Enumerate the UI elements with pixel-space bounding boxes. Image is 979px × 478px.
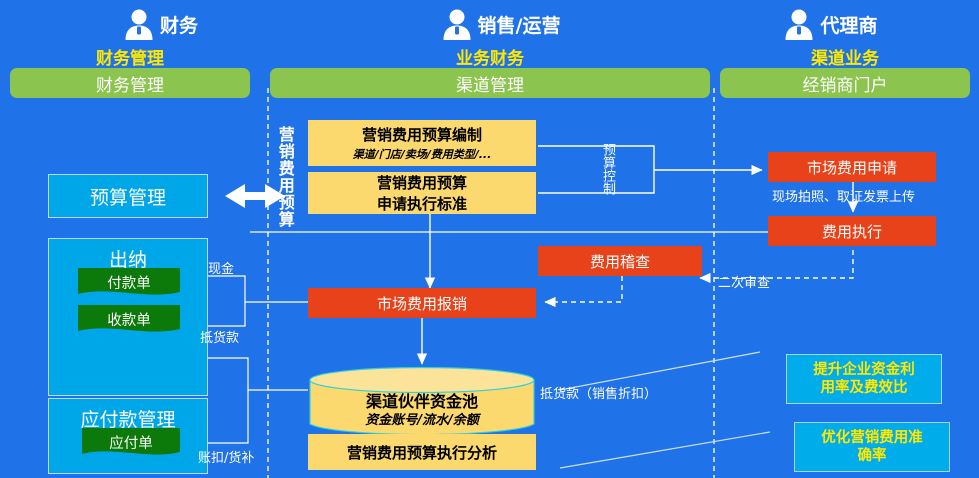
goal-line2: 用率及费效比 — [821, 379, 908, 397]
doc-label: 收款单 — [78, 309, 180, 330]
persona-header-finance: 财务 — [60, 4, 260, 44]
goal-box-accuracy[interactable]: 优化营销费用准 确率 — [794, 422, 950, 472]
budget-standard-line2: 申请执行标准 — [377, 193, 467, 214]
edge-label-account-deduct: 账扣/货补 — [198, 447, 254, 466]
persona-subtitle-agent: 渠道业务 — [720, 44, 970, 69]
goal-line1: 提升企业资金利 — [813, 361, 915, 379]
edge-label-goods-offset-discount: 抵货款（销售折扣） — [540, 383, 657, 402]
budget-standard-line1: 营销费用预算 — [377, 172, 467, 193]
budget-analysis-title: 营销费用预算执行分析 — [347, 442, 497, 463]
person-icon — [122, 7, 156, 41]
edge-label-photo-invoice-upload: 现场拍照、取证发票上传 — [772, 186, 915, 205]
goal-line1: 优化营销费用准 — [821, 429, 923, 447]
persona-subtitle-sales: 业务财务 — [270, 44, 710, 69]
budget-management-box[interactable]: 预算管理 — [48, 174, 208, 218]
module-bar-finance[interactable]: 财务管理 — [10, 68, 250, 98]
persona-name: 代理商 — [820, 11, 877, 38]
edge-label-second-review: 二次审查 — [718, 272, 770, 291]
person-icon — [440, 7, 474, 41]
fee-execution-box[interactable]: 费用执行 — [768, 216, 936, 246]
payment-voucher-doc[interactable]: 付款单 — [78, 268, 180, 298]
persona-subtitle-finance: 财务管理 — [10, 44, 250, 69]
person-icon — [782, 7, 816, 41]
marketing-budget-vertical-label: 营销费用预算 — [276, 126, 293, 228]
goal-box-fund-efficiency[interactable]: 提升企业资金利 用率及费效比 — [786, 354, 942, 404]
persona-name: 财务 — [160, 11, 198, 38]
channel-partner-fund-pool[interactable]: 渠道伙伴资金池 资金账号/流水/余额 — [308, 366, 536, 438]
edge-label-goods-offset: 抵货款 — [200, 327, 239, 346]
goal-line2: 确率 — [858, 447, 887, 465]
budget-compile-sub: 渠道/门店/卖场/费用类型/... — [353, 146, 492, 162]
fee-audit-box[interactable]: 费用稽查 — [538, 246, 702, 276]
budget-execution-analysis-box[interactable]: 营销费用预算执行分析 — [308, 434, 536, 470]
persona-header-sales: 销售/运营 — [390, 4, 610, 44]
budget-compile-box[interactable]: 营销费用预算编制 渠道/门店/卖场/费用类型/... — [308, 120, 536, 166]
edge-label-cash: 现金 — [208, 258, 234, 277]
market-fee-application-box[interactable]: 市场费用申请 — [768, 152, 936, 182]
market-fee-reimbursement-box[interactable]: 市场费用报销 — [308, 288, 536, 318]
receipt-voucher-doc[interactable]: 收款单 — [78, 305, 180, 335]
budget-standard-box[interactable]: 营销费用预算 申请执行标准 — [308, 172, 536, 214]
budget-compile-title: 营销费用预算编制 — [362, 124, 482, 145]
payable-voucher-doc[interactable]: 应付单 — [82, 428, 180, 458]
doc-label: 应付单 — [82, 432, 180, 453]
module-bar-channel[interactable]: 渠道管理 — [270, 68, 710, 98]
budget-control-label: 预算控制 — [601, 143, 614, 195]
diagram-canvas: 财务 财务管理 财务管理 销售/运营 业务财务 渠道管理 代理商 渠道业务 经销… — [0, 0, 979, 478]
persona-header-agent: 代理商 — [730, 4, 930, 44]
fund-pool-sub: 资金账号/流水/余额 — [308, 409, 536, 428]
module-bar-dealer-portal[interactable]: 经销商门户 — [720, 68, 970, 98]
doc-label: 付款单 — [78, 272, 180, 293]
persona-name: 销售/运营 — [478, 11, 561, 38]
